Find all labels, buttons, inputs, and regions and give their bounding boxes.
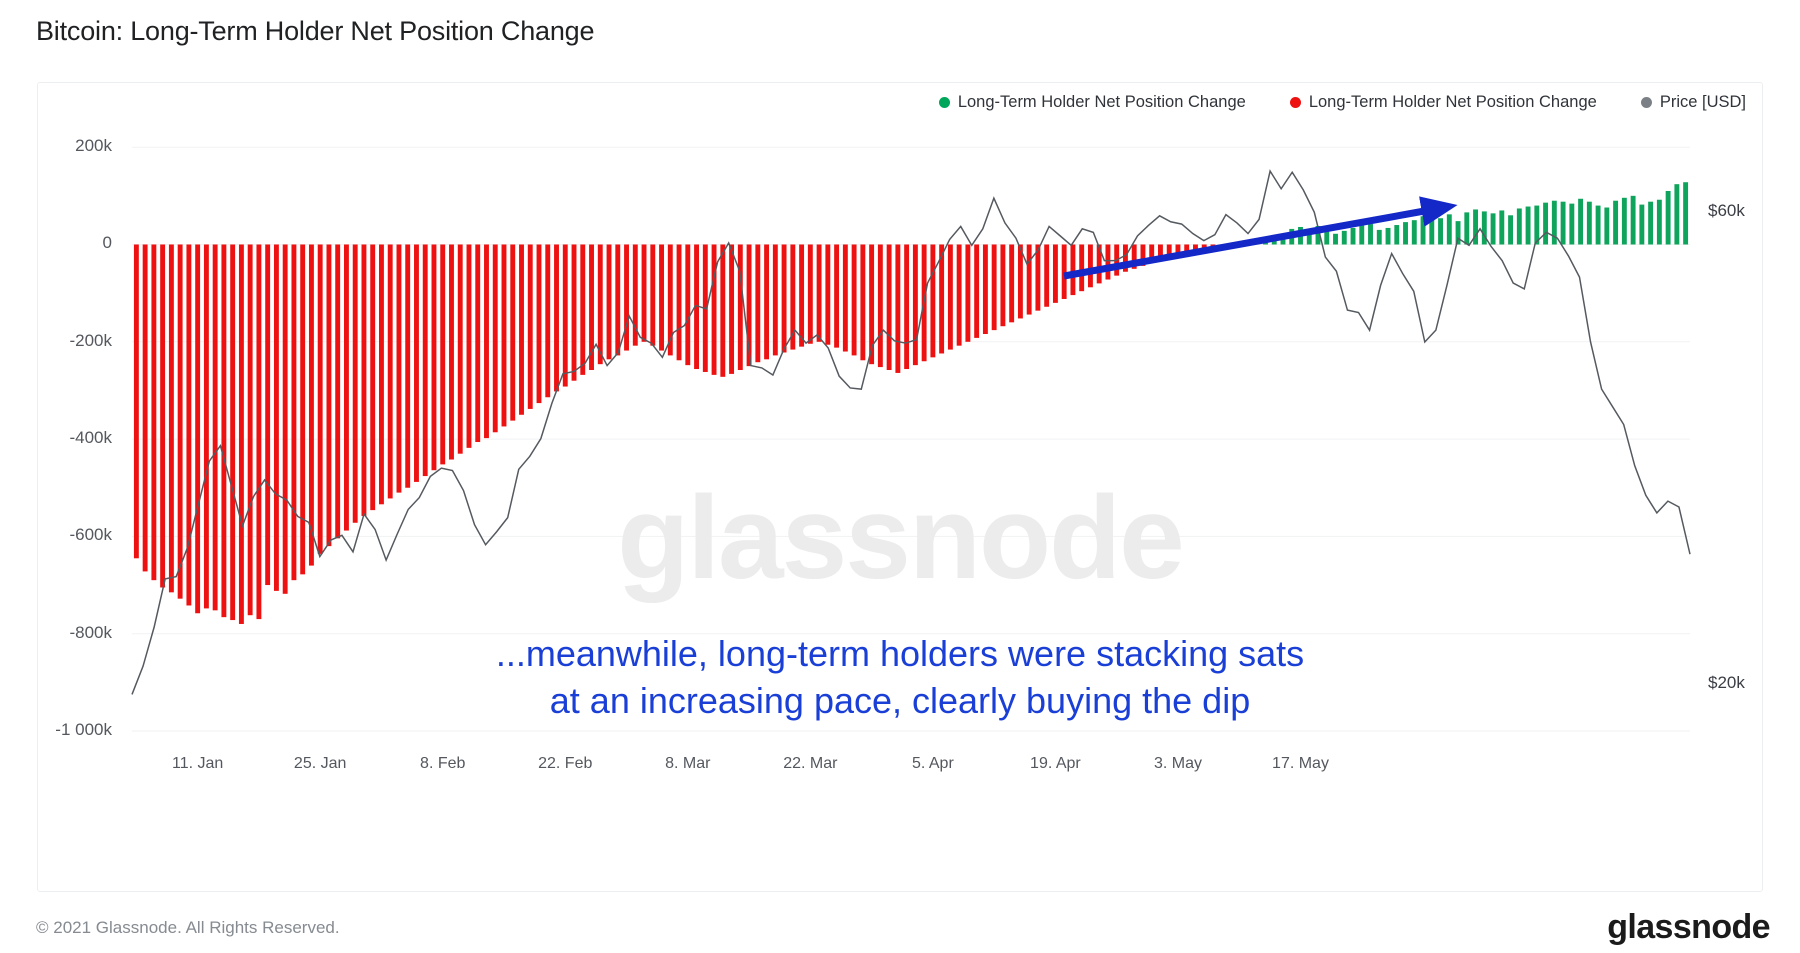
bar-negative (624, 244, 629, 350)
page-title: Bitcoin: Long-Term Holder Net Position C… (36, 16, 594, 47)
bar-negative (230, 244, 235, 620)
bar-negative (817, 244, 822, 341)
bar-negative (825, 244, 830, 344)
bar-negative (642, 244, 647, 341)
y-axis-left-tick: 0 (103, 233, 112, 253)
bar-negative (353, 244, 358, 522)
y-axis-right-tick: $20k (1708, 673, 1745, 693)
y-axis-left-tick: -800k (69, 623, 112, 643)
bar-negative (362, 244, 367, 515)
bar-negative (930, 244, 935, 357)
bar-negative (992, 244, 997, 330)
bar-negative (519, 244, 524, 414)
bar-negative (248, 244, 253, 615)
bar-positive (1543, 203, 1548, 245)
bar-negative (1053, 244, 1058, 302)
bar-positive (1342, 231, 1347, 245)
bar-negative (178, 244, 183, 598)
bar-positive (1639, 205, 1644, 245)
bar-negative (852, 244, 857, 355)
bar-negative (467, 244, 472, 447)
x-axis-tick: 25. Jan (294, 755, 346, 773)
bar-negative (782, 244, 787, 352)
bar-negative (274, 244, 279, 590)
bar-negative (432, 244, 437, 470)
bar-negative (799, 244, 804, 346)
bar-negative (957, 244, 962, 345)
bar-negative (598, 244, 603, 364)
bar-negative (405, 244, 410, 487)
bar-negative (291, 244, 296, 580)
bar-negative (572, 244, 577, 380)
bar-negative (965, 244, 970, 341)
bar-positive (1403, 222, 1408, 244)
bar-positive (1534, 206, 1539, 245)
bar-negative (1009, 244, 1014, 322)
bar-positive (1683, 182, 1688, 244)
annotation-text: ...meanwhile, long-term holders were sta… (496, 631, 1304, 725)
bar-negative (878, 244, 883, 367)
bar-negative (493, 244, 498, 432)
bar-positive (1368, 224, 1373, 244)
bar-positive (1657, 200, 1662, 245)
bar-negative (204, 244, 209, 608)
bar-positive (1464, 212, 1469, 244)
bar-negative (895, 244, 900, 372)
bar-negative (685, 244, 690, 365)
bar-negative (808, 244, 813, 343)
bar-negative (449, 244, 454, 459)
bar-positive (1499, 210, 1504, 244)
bar-positive (1438, 218, 1443, 244)
bar-negative (423, 244, 428, 476)
bar-negative (388, 244, 393, 498)
bar-negative (300, 244, 305, 574)
bar-positive (1674, 184, 1679, 244)
bar-negative (537, 244, 542, 403)
bar-negative (764, 244, 769, 359)
bar-negative (484, 244, 489, 438)
bar-negative (1027, 244, 1032, 314)
bar-positive (1561, 202, 1566, 245)
bar-positive (1429, 215, 1434, 244)
x-axis-tick: 17. May (1272, 755, 1329, 773)
bar-negative (1070, 244, 1075, 295)
footer-logo: glassnode (1607, 908, 1770, 947)
bar-negative (1105, 244, 1110, 279)
bar-negative (712, 244, 717, 374)
chart-panel: Long-Term Holder Net Position Change Lon… (37, 82, 1763, 892)
bar-negative (458, 244, 463, 453)
trend-arrow-line (1064, 210, 1430, 276)
y-axis-left-tick: 200k (75, 136, 112, 156)
bar-negative (948, 244, 953, 349)
bar-negative (379, 244, 384, 504)
bar-negative (1062, 244, 1067, 298)
bar-negative (913, 244, 918, 365)
bar-negative (983, 244, 988, 334)
bar-positive (1578, 199, 1583, 245)
bar-negative (563, 244, 568, 386)
bar-negative (169, 244, 174, 592)
bar-positive (1351, 228, 1356, 245)
bar-positive (1377, 230, 1382, 245)
bar-negative (834, 244, 839, 347)
bar-negative (1088, 244, 1093, 287)
bar-negative (755, 244, 760, 362)
x-axis-tick: 11. Jan (172, 755, 223, 773)
bar-negative (677, 244, 682, 360)
bar-negative (283, 244, 288, 593)
annotation-line-1: ...meanwhile, long-term holders were sta… (496, 631, 1304, 678)
bar-negative (326, 244, 331, 546)
bar-negative (309, 244, 314, 565)
bar-positive (1386, 228, 1391, 245)
bar-negative (502, 244, 507, 426)
bar-negative (545, 244, 550, 397)
bar-negative (904, 244, 909, 369)
bar-negative (1018, 244, 1023, 318)
bar-negative (256, 244, 261, 619)
bar-negative (860, 244, 865, 360)
bar-negative (1035, 244, 1040, 310)
bar-negative (887, 244, 892, 370)
bar-positive (1359, 223, 1364, 244)
bar-negative (221, 244, 226, 617)
bar-negative (195, 244, 200, 613)
bar-negative (134, 244, 139, 558)
bar-negative (414, 244, 419, 481)
bar-positive (1508, 215, 1513, 244)
bar-negative (344, 244, 349, 530)
bar-negative (528, 244, 533, 408)
bar-positive (1491, 213, 1496, 244)
bar-negative (738, 244, 743, 370)
bar-negative (1000, 244, 1005, 326)
bar-negative (1079, 244, 1084, 291)
bar-negative (843, 244, 848, 351)
bar-negative (580, 244, 585, 374)
bar-negative (335, 244, 340, 538)
bar-negative (729, 244, 734, 373)
y-axis-left-tick: -600k (69, 525, 112, 545)
bar-negative (510, 244, 515, 420)
footer-copyright: © 2021 Glassnode. All Rights Reserved. (36, 918, 340, 938)
bar-positive (1613, 201, 1618, 245)
bar-positive (1631, 196, 1636, 245)
bar-negative (554, 244, 559, 391)
bar-negative (773, 244, 778, 355)
bar-negative (607, 244, 612, 359)
bar-positive (1394, 225, 1399, 244)
y-axis-right-tick: $60k (1708, 201, 1745, 221)
bar-negative (186, 244, 191, 605)
bar-negative (143, 244, 148, 571)
bar-negative (1044, 244, 1049, 306)
x-axis-tick: 5. Apr (912, 755, 954, 773)
y-axis-left-tick: -1 000k (55, 720, 112, 740)
bar-positive (1569, 204, 1574, 245)
bar-positive (1412, 220, 1417, 244)
bar-negative (239, 244, 244, 623)
bar-negative (265, 244, 270, 585)
bar-positive (1333, 234, 1338, 245)
bar-positive (1666, 191, 1671, 245)
x-axis-tick: 22. Mar (783, 755, 837, 773)
bar-negative (659, 244, 664, 350)
bar-negative (974, 244, 979, 337)
x-axis-tick: 22. Feb (538, 755, 592, 773)
bar-negative (160, 244, 165, 587)
bar-positive (1622, 198, 1627, 245)
bar-negative (151, 244, 156, 580)
trend-arrow (1064, 210, 1430, 276)
bar-positive (1517, 208, 1522, 244)
bar-negative (720, 244, 725, 376)
bar-positive (1421, 216, 1426, 244)
bar-negative (650, 244, 655, 345)
bar-positive (1447, 214, 1452, 244)
x-axis-tick: 8. Feb (420, 755, 465, 773)
y-axis-left-tick: -200k (69, 331, 112, 351)
y-axis-left-tick: -400k (69, 428, 112, 448)
x-axis-tick: 3. May (1154, 755, 1202, 773)
bar-negative (213, 244, 218, 610)
bar-negative (318, 244, 323, 553)
bar-negative (615, 244, 620, 355)
bar-positive (1604, 208, 1609, 245)
x-axis-tick: 8. Mar (665, 755, 710, 773)
bar-negative (475, 244, 480, 442)
x-axis-tick: 19. Apr (1030, 755, 1081, 773)
bar-positive (1648, 202, 1653, 245)
bar-positive (1596, 206, 1601, 245)
bar-positive (1587, 202, 1592, 245)
bar-positive (1526, 207, 1531, 245)
bar-negative (370, 244, 375, 510)
bar-negative (440, 244, 445, 464)
annotation-line-2: at an increasing pace, clearly buying th… (496, 678, 1304, 725)
bar-negative (397, 244, 402, 492)
